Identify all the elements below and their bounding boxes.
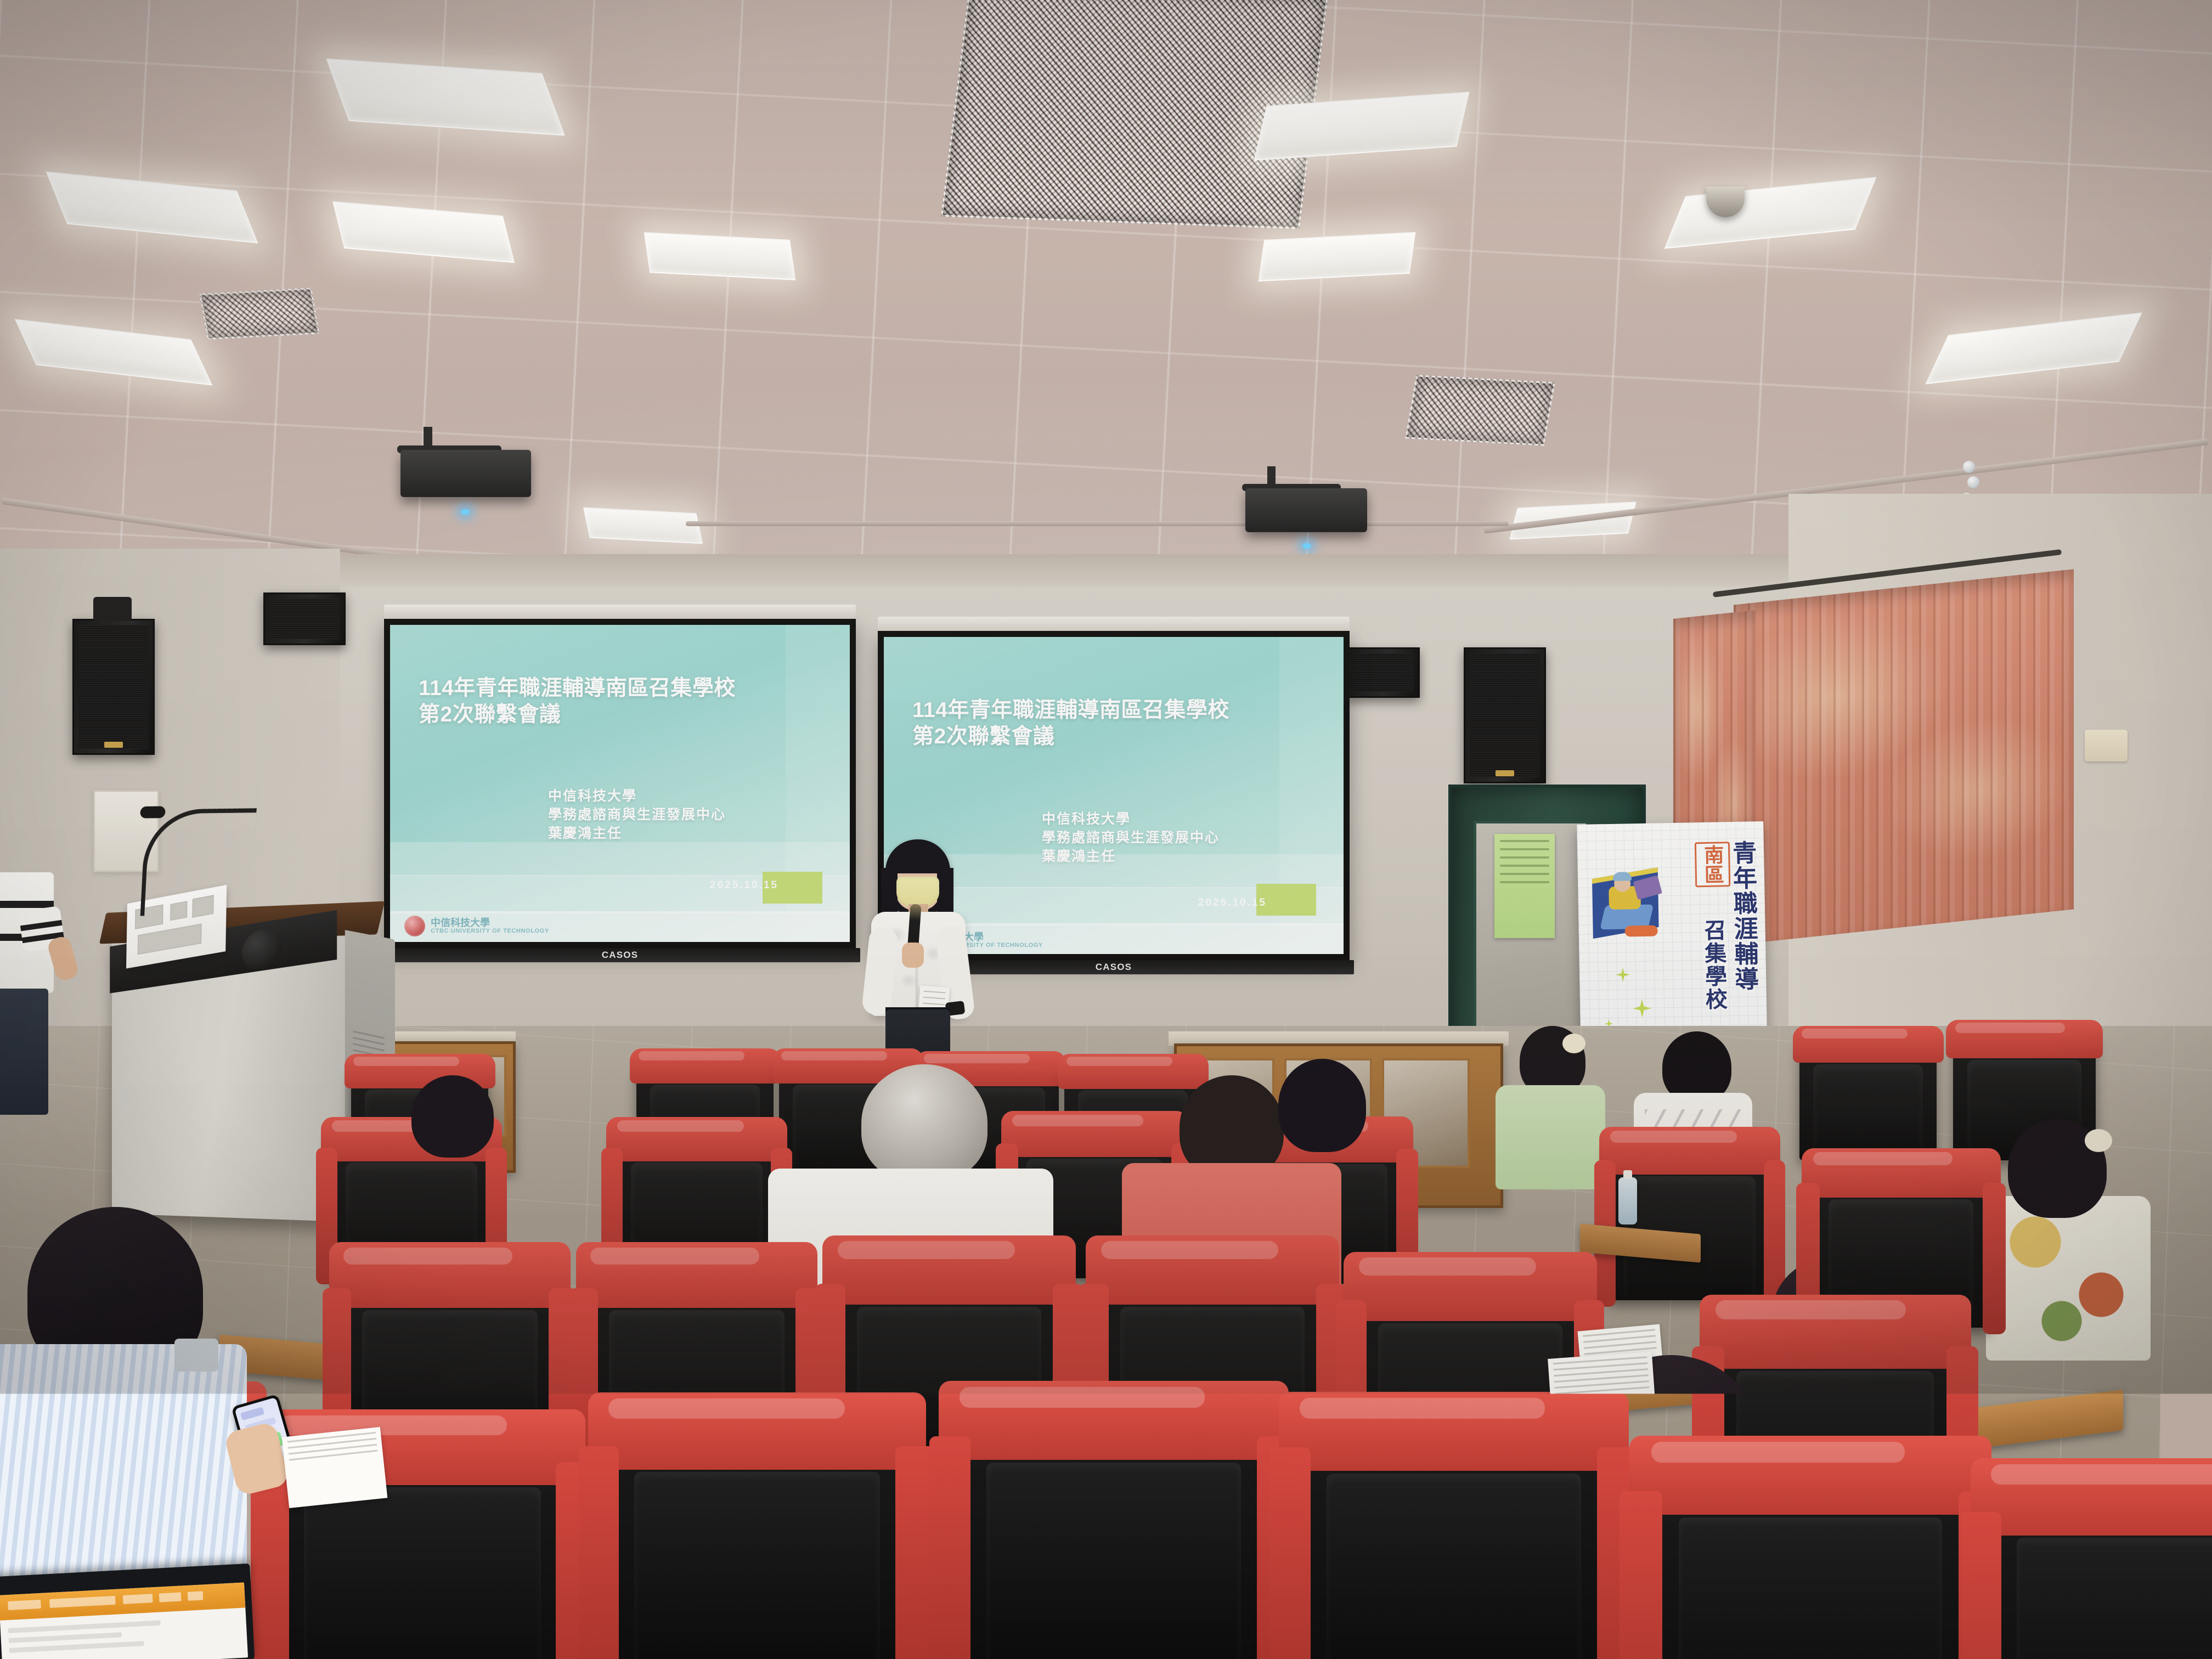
- wall-speaker-upper-left: [263, 592, 346, 645]
- slide-subtitle-line-2: 學務處諮商與生涯發展中心: [548, 806, 726, 825]
- banner-illustration: [1589, 861, 1673, 956]
- audience-head: [411, 1075, 494, 1158]
- window-curtain-right: [1734, 569, 2074, 945]
- slide-subtitle-line-2: 學務處諮商與生涯發展中心: [1042, 829, 1220, 848]
- screen-frame: 114年青年職涯輔導南區召集學校 第2次聯繫會議 中信科技大學 學務處諮商與生涯…: [384, 619, 856, 948]
- banner-headline-mid: 召集學校: [1697, 918, 1730, 1011]
- logo-text-english: CTBC UNIVERSITY OF TECHNOLOGY: [431, 928, 549, 935]
- seat[interactable]: [1986, 1481, 2212, 1659]
- face-mask-icon: [896, 877, 939, 906]
- slide-subtitle-line-1: 中信科技大學: [1042, 810, 1220, 829]
- hair-clip-icon: [2085, 1129, 2112, 1152]
- slide-title-line-2: 第2次聯繫會議: [419, 702, 736, 728]
- audience-torso-striped: [0, 1344, 247, 1602]
- slide-title-line-2: 第2次聯繫會議: [912, 724, 1229, 750]
- slide-subtitle-line-3: 葉慶鴻主任: [548, 825, 726, 843]
- slide-subtitle-line-1: 中信科技大學: [548, 787, 726, 806]
- hair-clip-icon: [1562, 1034, 1585, 1053]
- speaker-mount-bracket: [93, 597, 132, 621]
- wall-speaker-upper-right: [1344, 647, 1420, 698]
- slide-date: 2025.10.15: [710, 879, 778, 891]
- audience-torso-floral: [1986, 1196, 2151, 1361]
- banner-region-badge: 南區: [1695, 842, 1730, 887]
- slide-title-line-1: 114年青年職涯輔導南區召集學校: [419, 675, 736, 702]
- door-notice-paper: [1494, 834, 1555, 938]
- podium-knob-icon[interactable]: [242, 927, 281, 973]
- logo-text-chinese: 中信科技大學: [431, 918, 549, 928]
- wall-speaker-left: [72, 619, 155, 755]
- slide-university-logo: 中信科技大學 CTBC UNIVERSITY OF TECHNOLOGY: [404, 916, 549, 936]
- seat[interactable]: [955, 1404, 1273, 1659]
- wall-switch-plate[interactable]: [2085, 730, 2128, 761]
- water-bottle-icon: [1618, 1177, 1637, 1224]
- handout-paper: [282, 1427, 388, 1508]
- slide-subtitle-line-3: 葉慶鴻主任: [1042, 848, 1220, 866]
- wall-speaker-right: [1464, 647, 1546, 783]
- audience-torso: [1542, 1514, 1783, 1659]
- laptop-computer[interactable]: [0, 1564, 255, 1659]
- screen-brand-label: CASOS: [602, 950, 638, 961]
- ceiling-conduit: [686, 521, 1509, 526]
- slide-content-left: 114年青年職涯輔導南區召集學校 第2次聯繫會議 中信科技大學 學務處諮商與生涯…: [390, 625, 850, 942]
- slide-title-line-1: 114年青年職涯輔導南區召集學校: [912, 697, 1229, 724]
- audience-torso: [1496, 1085, 1605, 1189]
- face-mask-icon: [174, 1339, 218, 1372]
- conference-room-photo: 114年青年職涯輔導南區召集學校 第2次聯繫會議 中信科技大學 學務處諮商與生涯…: [0, 0, 2212, 1659]
- slide-date: 2025.10.15: [1198, 897, 1267, 909]
- seat[interactable]: [1799, 1037, 1937, 1160]
- audience-head: [1662, 1031, 1731, 1103]
- seat[interactable]: [603, 1415, 911, 1659]
- screen-brand-label: CASOS: [1096, 962, 1132, 973]
- handout-paper: [1548, 1352, 1662, 1502]
- university-seal-icon: [404, 916, 425, 936]
- standing-staff-person-left: [0, 872, 64, 1119]
- screen-bottom-bar: CASOS: [380, 948, 860, 962]
- audience-head-grey: [861, 1064, 988, 1182]
- projection-screen-left: 114年青年職涯輔導南區召集學校 第2次聯繫會議 中信科技大學 學務處諮商與生涯…: [384, 619, 856, 948]
- audience-head: [1278, 1059, 1366, 1152]
